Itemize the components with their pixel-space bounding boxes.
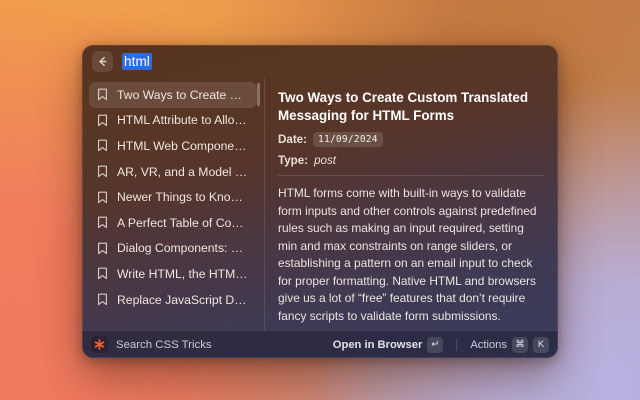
- list-item-label: Write HTML, the HTML Way (No…: [117, 267, 249, 281]
- list-item[interactable]: HTML Attribute to Allow/Disallo…: [89, 108, 257, 134]
- results-list[interactable]: Two Ways to Create Custom Tra…HTML Attri…: [82, 78, 264, 330]
- list-item-label: A Perfect Table of Contents Wit…: [117, 216, 249, 230]
- k-keycap: K: [533, 337, 549, 353]
- list-item-label: AR, VR, and a Model for 3D in H…: [117, 165, 249, 179]
- search-input[interactable]: html: [122, 53, 152, 70]
- bookmark-icon: [97, 139, 108, 152]
- enter-keycap: ↵: [427, 337, 443, 353]
- list-item-label: Two Ways to Create Custom Tra…: [117, 88, 249, 102]
- css-tricks-star-icon: [91, 336, 108, 353]
- list-item-label: Replace JavaScript Dialogs Wit…: [117, 293, 249, 307]
- list-item[interactable]: Two Ways to Create Custom Tra…: [89, 82, 257, 108]
- open-in-browser-button[interactable]: Open in Browser ↵: [333, 337, 444, 353]
- type-label: Type:: [278, 154, 308, 167]
- date-label: Date:: [278, 133, 307, 146]
- bookmark-icon: [97, 216, 108, 229]
- desktop-wallpaper: html Two Ways to Create Custom Tra…HTML …: [0, 0, 640, 400]
- list-item[interactable]: Replace JavaScript Dialogs Wit…: [89, 287, 257, 313]
- open-in-browser-label: Open in Browser: [333, 339, 423, 351]
- footer-divider: [456, 339, 457, 351]
- command-keycap: ⌘: [512, 337, 528, 353]
- actions-label: Actions: [470, 339, 507, 351]
- body-paragraph: HTML forms come with built-in ways to va…: [278, 185, 545, 325]
- list-item[interactable]: AR, VR, and a Model for 3D in H…: [89, 159, 257, 185]
- back-arrow-icon[interactable]: [92, 51, 113, 72]
- bookmark-icon: [97, 114, 108, 127]
- footer-brand-label: Search CSS Tricks: [116, 339, 325, 351]
- list-item-label: HTML Web Components Make…: [117, 139, 249, 153]
- page-title: Two Ways to Create Custom Translated Mes…: [278, 89, 545, 124]
- bookmark-icon: [97, 293, 108, 306]
- bookmark-icon: [97, 165, 108, 178]
- footer-bar: Search CSS Tricks Open in Browser ↵ Acti…: [82, 330, 558, 358]
- list-item-label: Newer Things to Know About G…: [117, 190, 249, 204]
- results-scrollbar[interactable]: [257, 83, 260, 106]
- horizontal-divider: [278, 175, 545, 176]
- list-item[interactable]: Dialog Components: Go Native…: [89, 236, 257, 262]
- list-item[interactable]: Write HTML, the HTML Way (No…: [89, 261, 257, 287]
- actions-button[interactable]: Actions ⌘ K: [470, 337, 549, 353]
- type-value: post: [314, 154, 336, 167]
- bookmark-icon: [97, 191, 108, 204]
- date-value: 11/09/2024: [313, 132, 383, 147]
- launcher-panel: html Two Ways to Create Custom Tra…HTML …: [82, 45, 558, 358]
- type-meta: Type: post: [278, 154, 545, 167]
- list-item[interactable]: HTML Web Components Make…: [89, 133, 257, 159]
- list-item-label: HTML Attribute to Allow/Disallo…: [117, 113, 249, 127]
- panel-body: Two Ways to Create Custom Tra…HTML Attri…: [82, 78, 558, 330]
- detail-pane: Two Ways to Create Custom Translated Mes…: [265, 78, 558, 330]
- date-meta: Date: 11/09/2024: [278, 132, 545, 147]
- search-bar: html: [82, 45, 558, 78]
- bookmark-icon: [97, 267, 108, 280]
- bookmark-icon: [97, 242, 108, 255]
- list-item[interactable]: A Perfect Table of Contents Wit…: [89, 210, 257, 236]
- bookmark-icon: [97, 88, 108, 101]
- list-item-label: Dialog Components: Go Native…: [117, 241, 249, 255]
- list-item[interactable]: Newer Things to Know About G…: [89, 184, 257, 210]
